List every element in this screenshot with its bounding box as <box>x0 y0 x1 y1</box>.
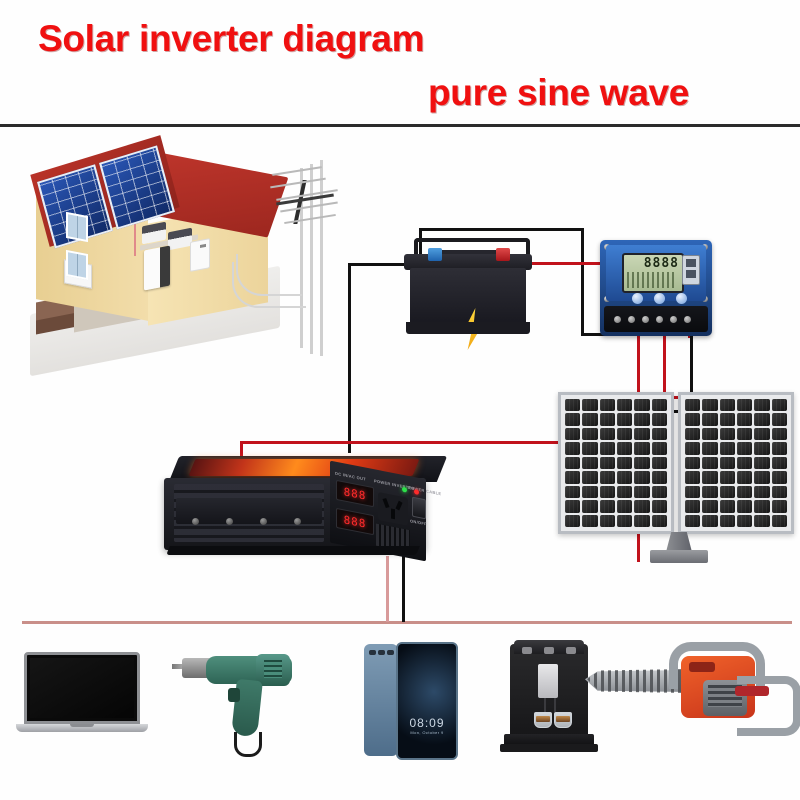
appliance-divider <box>22 621 792 624</box>
appliance-laptop: Laptop <box>14 636 154 786</box>
laptop-trackpad-notch <box>70 724 94 727</box>
coffee-control-1[interactable] <box>522 647 532 654</box>
phone-camera-icon-2 <box>378 650 385 655</box>
inverter-display-voltage-value: 888 <box>344 485 367 502</box>
diagram-canvas: Solar inverter diagram pure sine wave <box>0 0 800 800</box>
terminal-screw-5[interactable] <box>670 316 677 323</box>
battery <box>404 238 532 338</box>
coffee-dispenser-spout <box>538 664 558 698</box>
house-window-upper <box>66 212 88 242</box>
lcd-waveform-icon <box>627 272 677 288</box>
title-block: Solar inverter diagram pure sine wave <box>0 0 800 126</box>
inverter-power-switch[interactable] <box>412 497 426 520</box>
terminal-screw-2[interactable] <box>628 316 635 323</box>
inverter-ac-outlet[interactable] <box>378 492 408 526</box>
inverter-screw-3[interactable] <box>260 518 267 525</box>
controller-terminal-screws <box>614 316 694 323</box>
coffee-tube-right <box>554 698 556 712</box>
coffee-machine-base <box>500 744 598 752</box>
house-window-lower <box>66 250 88 280</box>
phone-wallpaper <box>398 644 456 758</box>
terminal-screw-4[interactable] <box>656 316 663 323</box>
coffee-control-3[interactable] <box>566 647 576 654</box>
solar-panel-array <box>558 392 800 562</box>
solar-cells-left <box>565 399 667 527</box>
controller-button-3[interactable] <box>676 293 687 304</box>
stand-base <box>650 550 708 563</box>
led-fault-indicator <box>414 489 419 495</box>
lcd-value: 8888 <box>644 256 679 271</box>
phone-date: Mon, October 9 <box>398 730 456 735</box>
solar-panel-right <box>678 392 794 534</box>
antenna-element-1 <box>272 166 322 176</box>
drill-power-cord <box>234 732 262 757</box>
controller-lcd-display: 8888 <box>622 253 684 293</box>
inverter-screw-2[interactable] <box>226 518 233 525</box>
wire-controller-pv-pos <box>663 336 666 398</box>
coffee-control-2[interactable] <box>544 647 554 654</box>
inverter-display-current: 888 <box>336 508 374 535</box>
battery-base <box>406 322 530 334</box>
chainsaw-throttle-trigger <box>735 686 769 696</box>
phone-camera-icon <box>369 650 376 655</box>
wire-controller-neg-down <box>581 228 584 336</box>
coffee-machine-top-panel <box>514 640 584 654</box>
page-title-line1: Solar inverter diagram <box>38 18 424 60</box>
wire-battery-neg-top-across <box>419 228 584 231</box>
controller-faceplate: 8888 MPPT SOLAR <box>606 245 706 301</box>
house-wall-inverter <box>144 245 170 290</box>
controller-usb-ports[interactable] <box>682 255 700 285</box>
inverter-label-cable: POWER CABLE <box>408 485 441 496</box>
charge-controller: 8888 MPPT SOLAR <box>600 240 712 336</box>
inverter-screw-4[interactable] <box>294 518 301 525</box>
laptop-screen <box>24 652 140 724</box>
controller-terminal-block <box>604 306 708 332</box>
terminal-screw-3[interactable] <box>642 316 649 323</box>
battery-negative-terminal <box>428 248 442 261</box>
appliance-chainsaw: Chainsaw <box>585 636 800 786</box>
appliance-power-drill: Power drill <box>172 636 312 786</box>
phone-flash-icon <box>387 650 394 655</box>
terminal-screw-6[interactable] <box>684 316 691 323</box>
appliance-smartphone: 08:09 Mon, October 9 Smartphone <box>358 636 478 786</box>
power-line-drop-2 <box>232 262 306 308</box>
coffee-cup-right <box>554 712 572 728</box>
battery-positive-terminal <box>496 248 510 261</box>
inverter-display-voltage: 888 <box>336 480 374 507</box>
wire-controller-pv-neg <box>690 336 693 398</box>
title-divider <box>0 124 800 127</box>
drill-vent <box>264 660 282 678</box>
solar-cells-right <box>685 399 787 527</box>
terminal-screw-1[interactable] <box>614 316 621 323</box>
power-inverter: DC IN/AC OUT POWER INVERTER POWER CABLE … <box>158 448 458 578</box>
house-electric-meter <box>190 238 210 272</box>
antenna-element-2 <box>270 178 326 189</box>
controller-button-row <box>632 293 688 304</box>
coffee-cup-left <box>534 712 552 728</box>
led-power-indicator <box>402 487 407 493</box>
coffee-tube-left <box>544 698 546 712</box>
inverter-base <box>166 546 420 555</box>
phone-rear-body <box>364 644 398 756</box>
phone-front-screen: 08:09 Mon, October 9 <box>396 642 458 760</box>
inverter-display-current-value: 888 <box>344 513 367 530</box>
battery-body <box>410 268 526 324</box>
inverter-screw-1[interactable] <box>192 518 199 525</box>
stand-neck <box>666 532 692 552</box>
solar-array-stand <box>644 532 714 562</box>
pole-mast-3 <box>320 160 323 356</box>
inverter-label-switch: ON/OFF <box>410 518 427 526</box>
drill-trigger <box>228 688 240 702</box>
controller-button-1[interactable] <box>632 293 643 304</box>
utility-pole <box>258 158 368 358</box>
controller-button-2[interactable] <box>654 293 665 304</box>
chainsaw-rear-handle <box>737 676 800 736</box>
page-title-line2: pure sine wave <box>428 72 689 114</box>
solar-panel-left <box>558 392 674 534</box>
phone-clock: 08:09 <box>398 716 456 730</box>
